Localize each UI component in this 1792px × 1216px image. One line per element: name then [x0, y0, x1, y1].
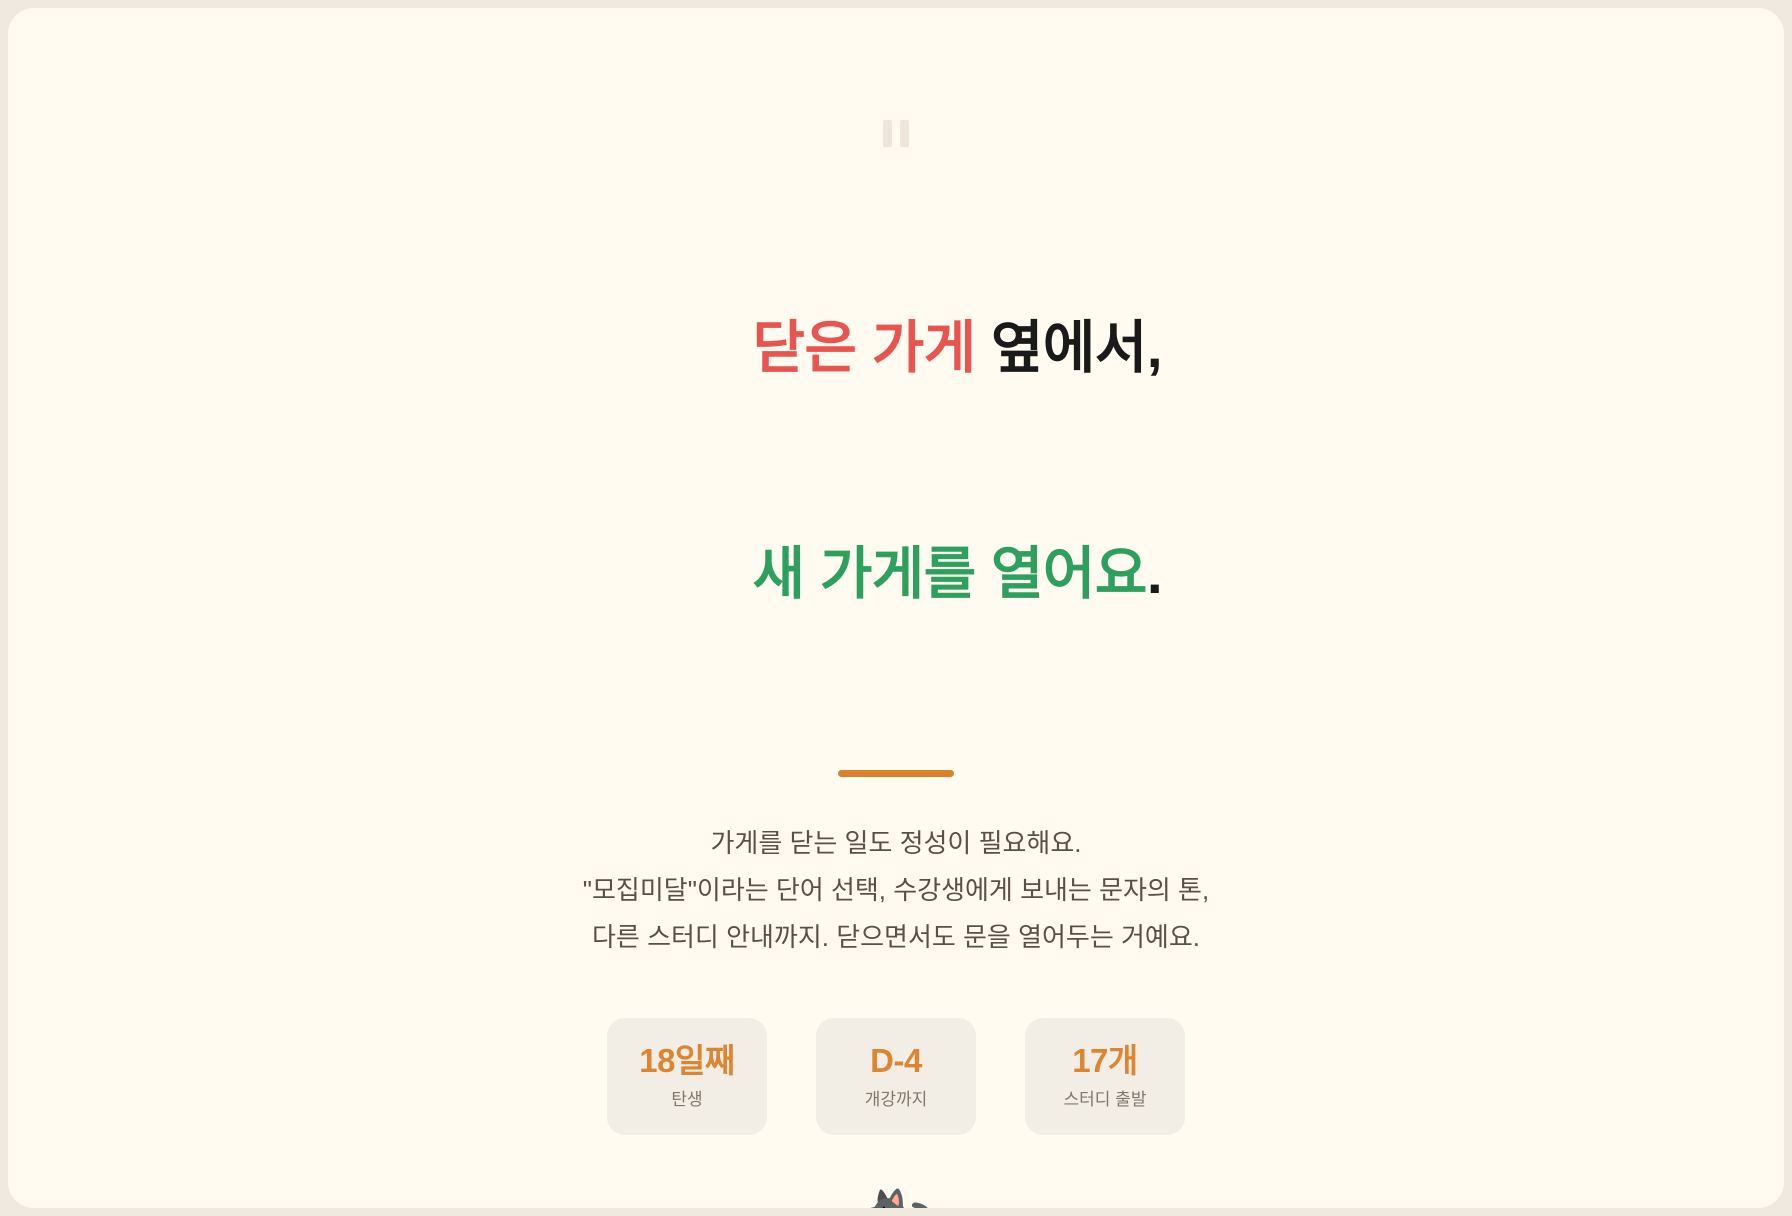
headline-segment: . [1147, 542, 1162, 606]
stat-card: 18일째 탄생 [607, 1018, 767, 1135]
slide-stage: 닫은 가게 옆에서, 새 가게를 열어요. 가게를 닫는 일도 정성이 필요해요… [8, 8, 1784, 1208]
body-line-1: 가게를 닫는 일도 정성이 필요해요. [583, 820, 1209, 867]
headline-line-1: 닫은 가게 옆에서, [630, 236, 1162, 462]
headline-segment: 새 가게를 열어요 [753, 542, 1147, 606]
stat-value: D-4 [870, 1040, 922, 1081]
stat-card: 17개 스터디 출발 [1025, 1018, 1185, 1135]
body-text: 가게를 닫는 일도 정성이 필요해요. "모집미달"이라는 단어 선택, 수강생… [583, 820, 1209, 962]
stat-label: 탄생 [671, 1089, 702, 1111]
stat-label: 개강까지 [865, 1089, 928, 1111]
stat-label: 스터디 출발 [1064, 1089, 1147, 1111]
body-line-2: "모집미달"이라는 단어 선택, 수강생에게 보내는 문자의 톤, [583, 867, 1209, 914]
slide-card: 닫은 가게 옆에서, 새 가게를 열어요. 가게를 닫는 일도 정성이 필요해요… [8, 8, 1784, 1208]
stat-card-group: 18일째 탄생 D-4 개강까지 17개 스터디 출발 [607, 1018, 1185, 1135]
stat-value: 17개 [1072, 1040, 1138, 1081]
accent-divider [838, 770, 954, 777]
body-line-3: 다른 스터디 안내까지. 닫으면서도 문을 열어두는 거예요. [583, 914, 1209, 961]
headline-line-2: 새 가게를 열어요. [630, 462, 1162, 688]
stat-value: 18일째 [639, 1040, 734, 1081]
headline-segment: 옆에서, [991, 316, 1162, 380]
headline: 닫은 가게 옆에서, 새 가게를 열어요. [630, 236, 1162, 687]
headline-segment: 닫은 가게 [753, 316, 991, 380]
stat-card: D-4 개강까지 [816, 1018, 976, 1135]
black-cat-icon: 🐈‍⬛ [856, 1193, 936, 1208]
